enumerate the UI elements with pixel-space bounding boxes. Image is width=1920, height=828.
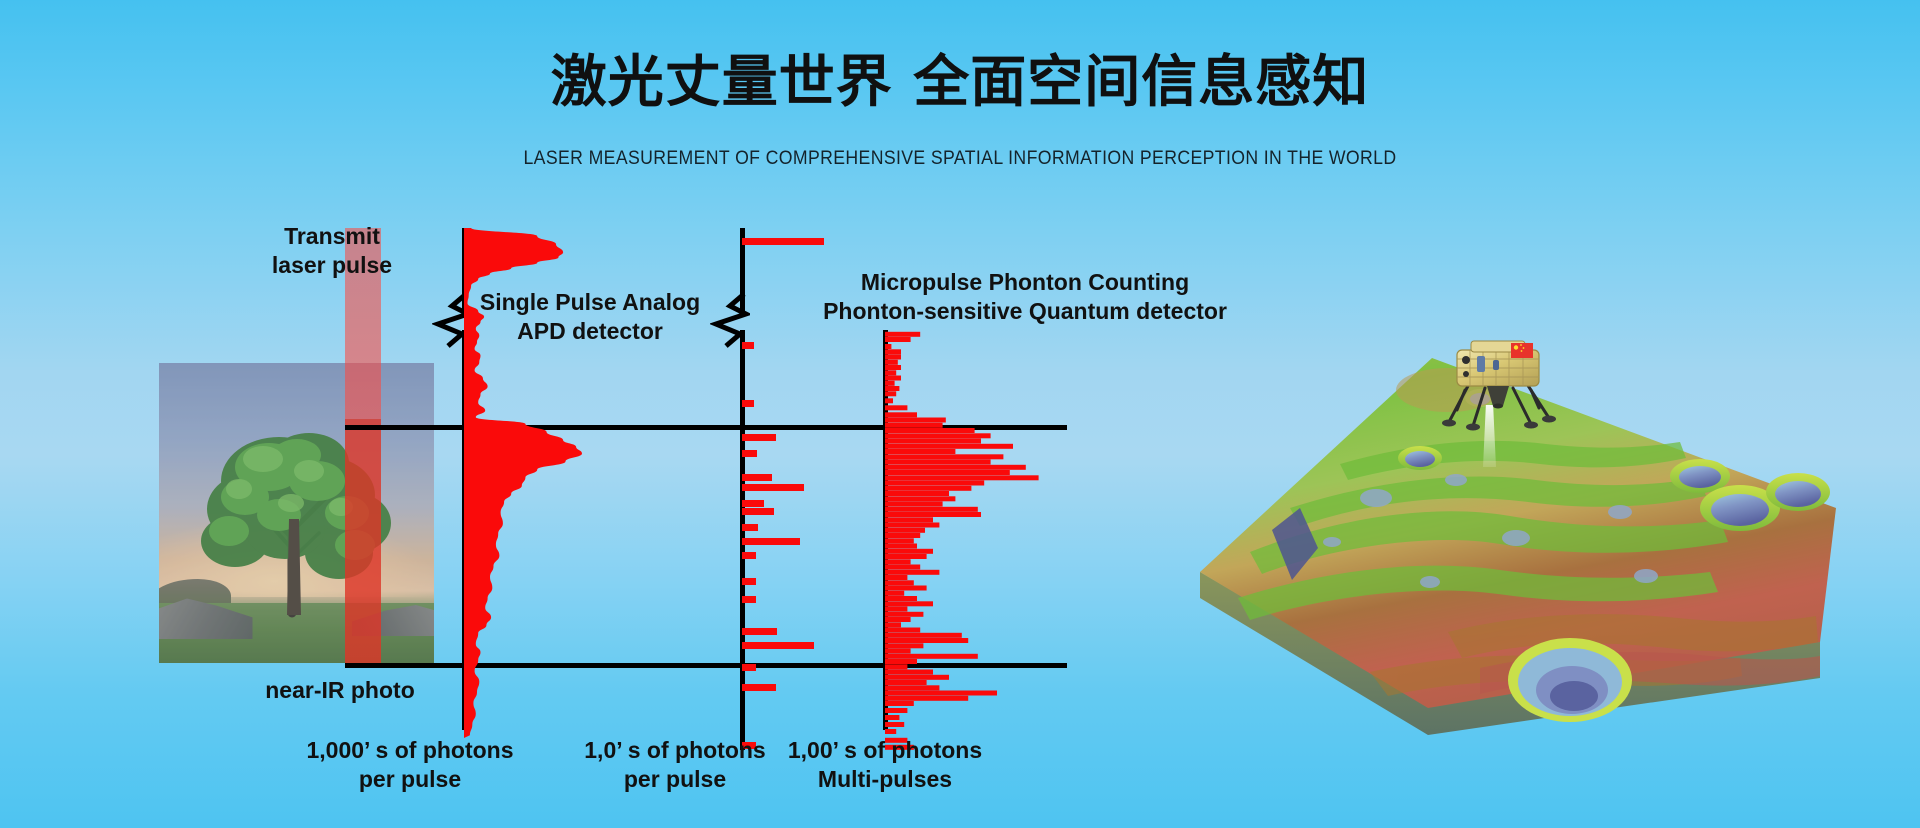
caption-panel3-line1: 1,00’ s of photons <box>760 736 1010 765</box>
label-transmit-line2: laser pulse <box>232 251 432 280</box>
page-subtitle: LASER MEASUREMENT OF COMPREHENSIVE SPATI… <box>67 148 1853 170</box>
caption-panel1: 1,000’ s of photons per pulse <box>280 736 540 795</box>
label-single-pulse-analog: Single Pulse Analog APD detector <box>420 288 760 346</box>
near-ir-photo-image <box>159 363 434 663</box>
label-near-ir-photo: near-IR photo <box>210 676 470 705</box>
label-single-line1: Single Pulse Analog <box>420 288 760 317</box>
label-transmit-laser-pulse: Transmit laser pulse <box>232 222 432 280</box>
lunar-lander-model <box>1435 338 1560 443</box>
caption-panel3-line2: Multi-pulses <box>760 765 1010 794</box>
caption-panel2-line1: 1,0’ s of photons <box>560 736 790 765</box>
laser-beam-absorption <box>345 419 381 664</box>
caption-panel2: 1,0’ s of photons per pulse <box>560 736 790 795</box>
caption-panel1-line2: per pulse <box>280 765 540 794</box>
caption-panel1-line1: 1,000’ s of photons <box>280 736 540 765</box>
label-single-line2: APD detector <box>420 317 760 346</box>
label-transmit-line1: Transmit <box>232 222 432 251</box>
banner-stage: 激光丈量世界 全面空间信息感知 LASER MEASUREMENT OF COM… <box>0 0 1920 828</box>
panel3-bars <box>885 330 1045 750</box>
page-title: 激光丈量世界 全面空间信息感知 <box>0 52 1920 114</box>
caption-panel3: 1,00’ s of photons Multi-pulses <box>760 736 1010 795</box>
caption-panel2-line2: per pulse <box>560 765 790 794</box>
